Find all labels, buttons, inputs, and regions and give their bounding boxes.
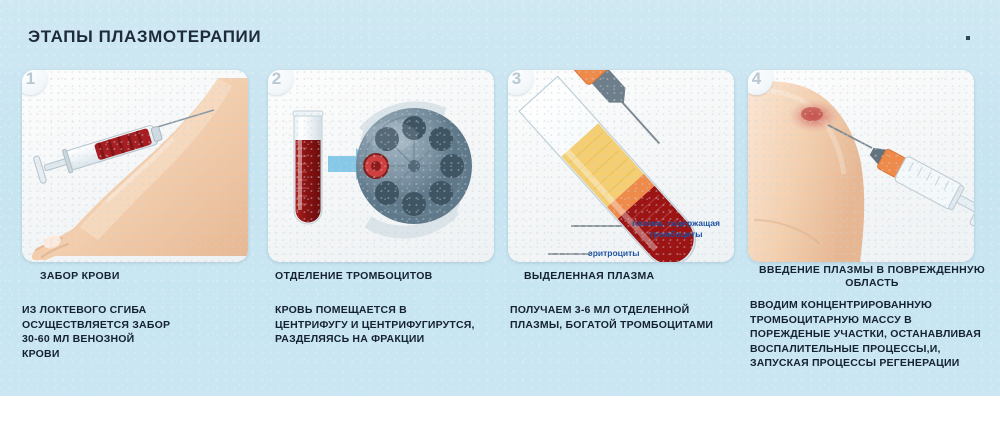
step-card-4[interactable]: 4 [748,70,974,262]
step-body-3: ПОЛУЧАЕМ 3-6 МЛ ОТДЕЛЕННОЙ ПЛАЗМЫ, БОГАТ… [510,303,760,332]
step-title-4: ВВЕДЕНИЕ ПЛАЗМЫ В ПОВРЕЖДЕННУЮ ОБЛАСТЬ [748,264,996,290]
step-title-1: ЗАБОР КРОВИ [40,270,240,283]
callout-erythrocytes: эритроциты [588,248,678,259]
centrifuge-illustration [268,70,494,262]
arm-with-syringe-illustration [22,70,248,262]
page-title: ЭТАПЫ ПЛАЗМОТЕРАПИИ [28,27,261,47]
step-card-2[interactable]: 2 [268,70,494,262]
step-title-2: ОТДЕЛЕНИЕ ТРОМБОЦИТОВ [275,270,490,283]
step-body-4: ВВОДИМ КОНЦЕНТРИРОВАННУЮ ТРОМБОЦИТАРНУЮ … [750,298,1000,371]
step-card-3[interactable]: плазма, содержащая тромбоциты эритроциты… [508,70,734,262]
step-body-1: ИЗ ЛОКТЕВОГО СГИБА ОСУЩЕСТВЛЯЕТСЯ ЗАБОР … [22,303,252,361]
shoulder-injection-illustration [748,70,974,262]
callout-plasma-platelets: плазма, содержащая тромбоциты [620,218,732,240]
step-body-2: КРОВЬ ПОМЕЩАЕТСЯ В ЦЕНТРИФУГУ И ЦЕНТРИФУ… [275,303,505,347]
infographic-root: ЭТАПЫ ПЛАЗМОТЕРАПИИ [0,0,1000,426]
step-card-1[interactable]: 1 [22,70,248,262]
corner-dot-marker [966,36,970,40]
step-title-3: ВЫДЕЛЕННАЯ ПЛАЗМА [524,270,744,283]
